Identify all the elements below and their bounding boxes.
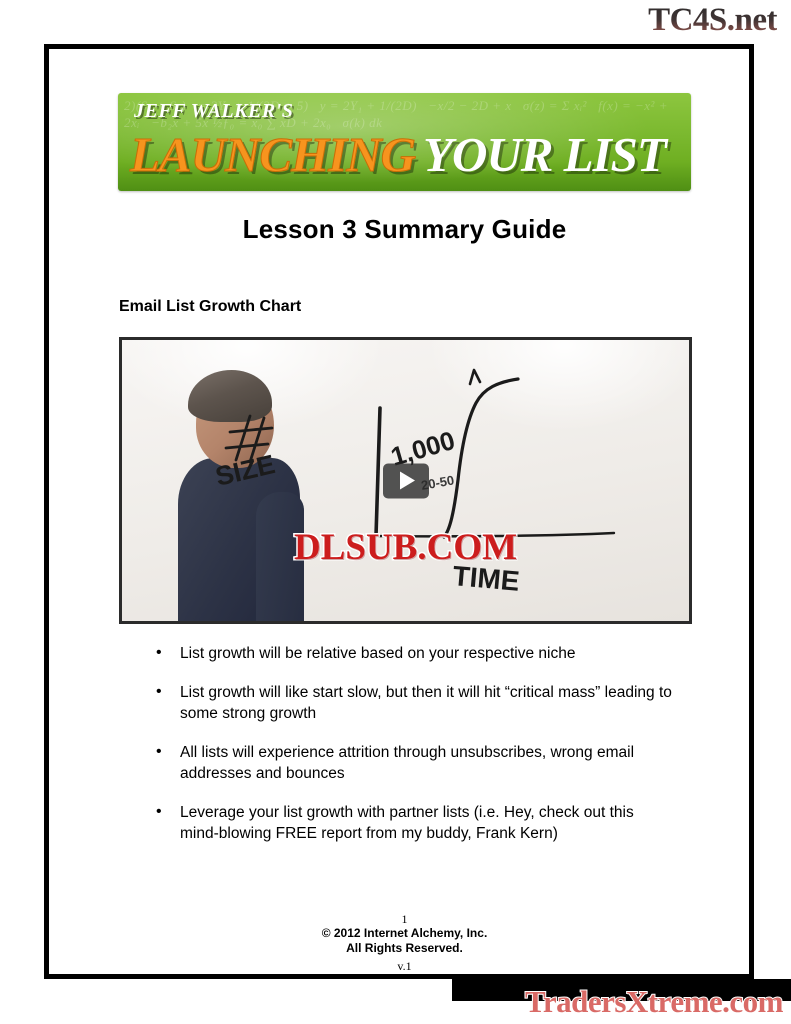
list-item: Leverage your list growth with partner l…: [144, 802, 674, 844]
list-item: All lists will experience attrition thro…: [144, 742, 674, 784]
banner-word-your-list: YOUR LIST: [423, 127, 666, 182]
rights-line: All Rights Reserved.: [118, 941, 691, 956]
list-item: List growth will like start slow, but th…: [144, 682, 674, 724]
section-heading: Email List Growth Chart: [119, 298, 301, 316]
play-triangle-icon: [400, 472, 415, 490]
page-title: Lesson 3 Summary Guide: [118, 214, 691, 245]
banner-author-label: JEFF WALKER'S: [134, 100, 293, 123]
banner-word-launching: LAUNCHING: [130, 127, 415, 182]
video-player-thumbnail[interactable]: SIZE 1,000 20-50 TIME DLSUB.COM: [119, 337, 692, 624]
page-number: 1: [118, 912, 691, 926]
launching-your-list-banner: 2)(S₁ + S₂) = 2Y₁ + 1/(2D + 5) y = 2Y₁ +…: [118, 93, 691, 191]
banner-title: LAUNCHINGYOUR LIST: [130, 126, 666, 183]
document-page: 2)(S₁ + S₂) = 2Y₁ + 1/(2D + 5) y = 2Y₁ +…: [44, 44, 754, 979]
version-label: v.1: [118, 958, 691, 974]
play-icon[interactable]: [383, 463, 429, 498]
dlsub-watermark: DLSUB.COM: [294, 526, 517, 569]
tc4s-watermark: TC4S.net: [648, 2, 777, 39]
page-footer: 1 © 2012 Internet Alchemy, Inc. All Righ…: [118, 912, 691, 974]
svg-text:SIZE: SIZE: [213, 449, 278, 492]
summary-bullet-list: List growth will be relative based on yo…: [144, 643, 674, 862]
copyright-line: © 2012 Internet Alchemy, Inc.: [118, 926, 691, 941]
tradersxtreme-watermark: TradersXtreme.com: [525, 984, 783, 1020]
list-item: List growth will be relative based on yo…: [144, 643, 674, 664]
